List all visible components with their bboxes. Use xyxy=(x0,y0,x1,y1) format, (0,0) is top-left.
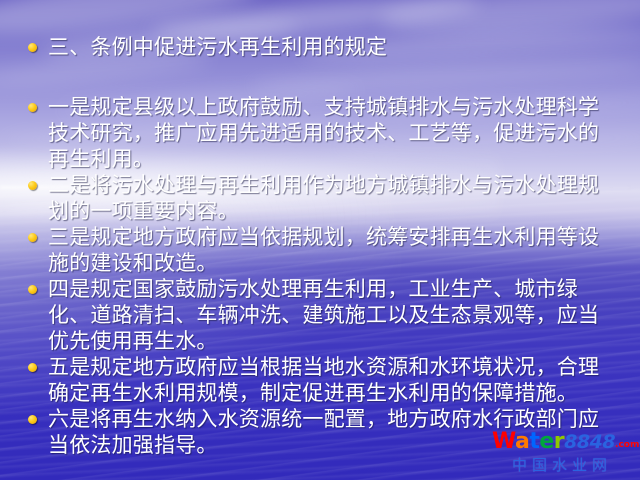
watermark-letter-t: t xyxy=(529,429,539,454)
bullet-dot-icon xyxy=(28,181,37,190)
watermark-letter-w: W xyxy=(492,429,515,454)
slide-title-bullet: 三、条例中促进污水再生利用的规定 xyxy=(28,34,620,60)
watermark-chinese-text: 中国水业网 xyxy=(492,457,632,474)
bullet-item-2-text: 二是将污水处理与再生利用作为地方城镇排水与污水处理规划的一项重要内容。 xyxy=(48,172,620,224)
bullet-dot-icon xyxy=(28,103,37,112)
watermark-letter-a: a xyxy=(515,429,529,454)
bullet-item-5-text: 五是规定地方政府应当根据当地水资源和水环境状况，合理确定再生水利用规模，制定促进… xyxy=(48,354,620,406)
watermark-dotcom: .com xyxy=(615,440,639,450)
bullet-item-1: 一是规定县级以上政府鼓励、支持城镇排水与污水处理科学技术研究，推广应用先进适用的… xyxy=(28,94,620,172)
bullet-item-5: 五是规定地方政府应当根据当地水资源和水环境状况，合理确定再生水利用规模，制定促进… xyxy=(28,354,620,406)
watermark-logo: Water8848.com 中国水业网 xyxy=(492,431,632,474)
watermark-letter-e: e xyxy=(539,429,553,454)
bullet-item-1-text: 一是规定县级以上政府鼓励、支持城镇排水与污水处理科学技术研究，推广应用先进适用的… xyxy=(48,94,620,172)
bullet-item-4-text: 四是规定国家鼓励污水处理再生利用，工业生产、城市绿化、道路清扫、车辆冲洗、建筑施… xyxy=(48,276,620,354)
bullet-item-3: 三是规定地方政府应当依据规划，统筹安排再生水利用等设施的建设和改造。 xyxy=(28,224,620,276)
bullet-item-4: 四是规定国家鼓励污水处理再生利用，工业生产、城市绿化、道路清扫、车辆冲洗、建筑施… xyxy=(28,276,620,354)
bullet-item-3-text: 三是规定地方政府应当依据规划，统筹安排再生水利用等设施的建设和改造。 xyxy=(48,224,620,276)
slide-title-text: 三、条例中促进污水再生利用的规定 xyxy=(48,34,620,60)
title-spacer xyxy=(28,60,620,94)
watermark-wordmark: Water8848.com xyxy=(492,431,632,456)
bullet-dot-icon xyxy=(28,43,37,52)
bullet-dot-icon xyxy=(28,233,37,242)
bullet-dot-icon xyxy=(28,363,37,372)
watermark-letter-r: r xyxy=(554,429,564,454)
slide-content: 三、条例中促进污水再生利用的规定 一是规定县级以上政府鼓励、支持城镇排水与污水处… xyxy=(28,34,620,458)
bullet-dot-icon xyxy=(28,415,37,424)
watermark-digits: 8848 xyxy=(564,431,615,453)
presentation-slide: 三、条例中促进污水再生利用的规定 一是规定县级以上政府鼓励、支持城镇排水与污水处… xyxy=(0,0,640,480)
bullet-dot-icon xyxy=(28,285,37,294)
bullet-item-2: 二是将污水处理与再生利用作为地方城镇排水与污水处理规划的一项重要内容。 xyxy=(28,172,620,224)
